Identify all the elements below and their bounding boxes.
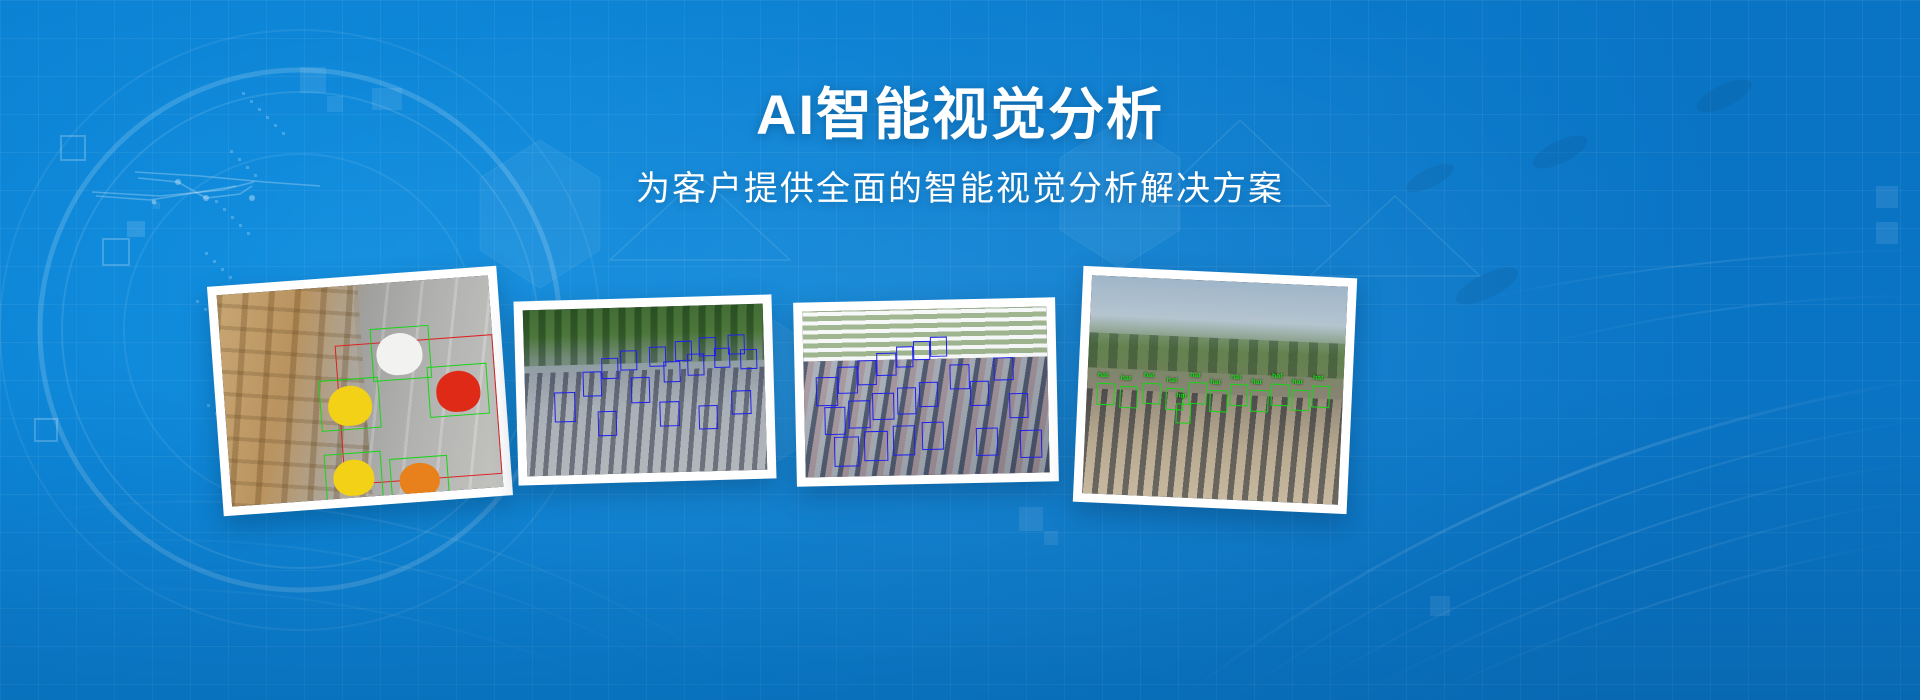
detection-box-person	[857, 360, 877, 385]
detection-box-hat	[1312, 386, 1331, 409]
detection-box-person	[876, 353, 896, 377]
detection-box-person	[582, 371, 602, 396]
detection-label-hat: hat	[1167, 377, 1178, 385]
detection-box-hat	[1291, 389, 1310, 412]
gallery-photo-2-image	[523, 304, 768, 477]
detection-box-person	[970, 381, 990, 406]
detection-box-person	[838, 367, 858, 394]
detection-box-person	[930, 337, 947, 357]
detection-box-person	[848, 400, 871, 429]
detection-box-hat	[1096, 382, 1115, 405]
detection-label-hat: hat	[1098, 372, 1109, 380]
detection-box-person	[598, 411, 618, 436]
detection-label-hat: hat	[1210, 379, 1221, 387]
detection-box-helmet	[324, 451, 384, 502]
detection-box-person	[601, 358, 618, 380]
detection-box-helmet	[426, 363, 489, 418]
gallery-photo-4[interactable]: hat hat hat hat hat hat hat hat hat ha	[1073, 266, 1357, 514]
gallery-photo-4-image: hat hat hat hat hat hat hat hat hat ha	[1082, 275, 1348, 504]
detection-box-person	[630, 377, 650, 404]
detection-box-helmet	[318, 377, 381, 432]
detection-box-person	[1020, 429, 1043, 458]
gallery-photo-3-image	[802, 306, 1049, 477]
detection-box-person	[913, 340, 930, 360]
detection-box-person	[663, 361, 680, 383]
gallery-photo-2[interactable]	[513, 294, 776, 485]
detection-box-person	[834, 437, 859, 467]
page-title: AI智能视觉分析	[0, 84, 1920, 147]
detection-box-person	[824, 407, 847, 436]
gallery-photo-3[interactable]	[793, 297, 1059, 486]
page-subtitle: 为客户提供全面的智能视觉分析解决方案	[0, 169, 1920, 210]
detection-box-helmet	[369, 324, 433, 381]
detection-label-hat: hat	[1272, 373, 1283, 381]
detection-box-helmet	[390, 455, 450, 504]
detection-box-person	[950, 365, 970, 390]
detection-box-person	[620, 350, 637, 370]
detection-box-hat	[1189, 382, 1208, 405]
detection-box-person	[816, 377, 839, 406]
detection-label-hat: hat	[1251, 379, 1262, 387]
detection-box-person	[922, 422, 945, 451]
detection-box-hat	[1230, 384, 1249, 407]
detection-box-person	[976, 427, 999, 456]
detection-box-person	[554, 392, 576, 422]
gallery-photo-1-image	[217, 275, 504, 506]
detection-box-person	[918, 382, 938, 407]
detection-box-person	[740, 349, 757, 369]
ai-vision-hero-banner: AI智能视觉分析 为客户提供全面的智能视觉分析解决方案	[0, 0, 1920, 700]
detection-label-hat: hat	[1190, 371, 1201, 379]
hero-text-block: AI智能视觉分析 为客户提供全面的智能视觉分析解决方案	[0, 84, 1920, 210]
decor-square-filled	[127, 221, 145, 237]
detection-label-hat: hat	[1144, 371, 1155, 379]
detection-box-person	[872, 393, 895, 420]
detection-box-hat	[1119, 386, 1138, 409]
detection-box-person	[863, 431, 888, 461]
detection-box-hat	[1250, 389, 1269, 412]
detection-box-person	[731, 390, 751, 414]
detection-label-hat: hat	[1176, 393, 1187, 401]
detection-box-person	[893, 425, 916, 455]
detection-box-person	[1009, 393, 1029, 418]
gallery-photo-1[interactable]	[207, 266, 513, 517]
decor-square-filled	[1430, 596, 1450, 616]
sample-photo-strip: hat hat hat hat hat hat hat hat hat ha	[0, 258, 1920, 538]
detection-label-hat: hat	[1231, 373, 1242, 381]
decor-square-filled	[1876, 222, 1898, 244]
detection-box-hat	[1209, 390, 1228, 413]
detection-box-person	[660, 401, 680, 426]
detection-box-hat	[1175, 403, 1191, 423]
detection-label-hat: hat	[1120, 375, 1131, 383]
detection-box-person	[897, 387, 917, 414]
detection-label-hat: hat	[1292, 378, 1303, 386]
detection-box-hat	[1271, 384, 1290, 407]
detection-box-hat	[1143, 382, 1162, 405]
detection-box-person	[896, 346, 914, 368]
detection-box-person	[698, 405, 718, 430]
detection-label-hat: hat	[1313, 375, 1324, 383]
detection-box-person	[994, 357, 1014, 381]
